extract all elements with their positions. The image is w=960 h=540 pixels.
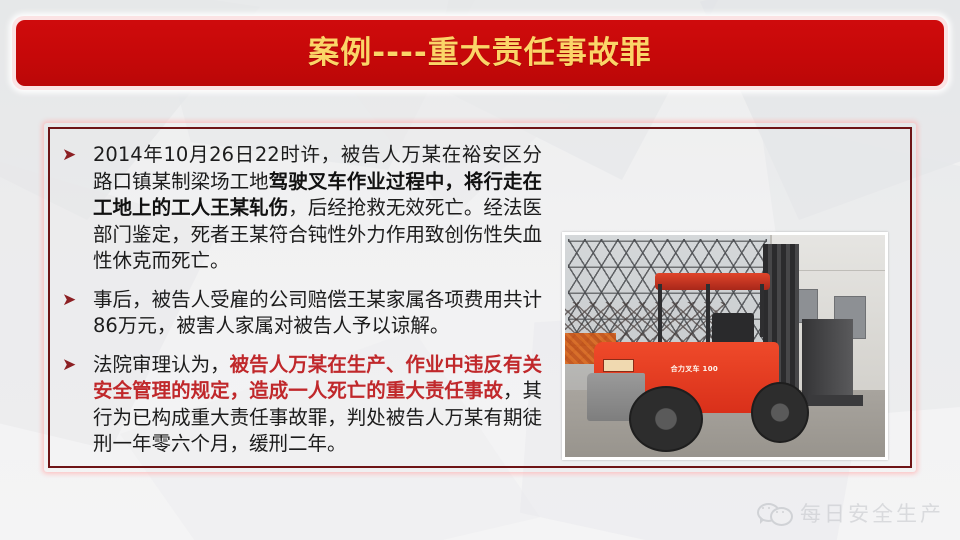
page-title: 案例----重大责任事故罪 [308, 38, 651, 69]
watermark: 每日安全生产 [757, 498, 944, 528]
title-banner: 案例----重大责任事故罪 [12, 16, 948, 90]
wechat-icon [757, 501, 791, 525]
list-item: ➤ 事后，被告人受雇的公司赔偿王某家属各项费用共计86万元，被害人家属对被告人予… [62, 287, 542, 340]
slide-root: 案例----重大责任事故罪 ➤ 2014年10月26日22时许，被告人万某在裕安… [0, 0, 960, 540]
list-item: ➤ 法院审理认为，被告人万某在生产、作业中违反有关安全管理的规定，造成一人死亡的… [62, 352, 542, 458]
list-item: ➤ 2014年10月26日22时许，被告人万某在裕安区分路口镇某制梁场工地驾驶叉… [62, 142, 542, 275]
arrow-bullet-icon: ➤ [62, 355, 82, 375]
bullet-3-segment-1: 法院审理认为， [93, 353, 230, 376]
forklift-label: 合力叉车 100 [671, 364, 718, 374]
bullet-list: ➤ 2014年10月26日22时许，被告人万某在裕安区分路口镇某制梁场工地驾驶叉… [62, 142, 542, 458]
bullet-2-segment-1: 事后，被告人受雇的公司赔偿王某家属各项费用共计86万元，被害人家属对被告人予以谅… [93, 288, 542, 338]
watermark-text: 每日安全生产 [800, 498, 944, 528]
bullet-paragraph-2: 事后，被告人受雇的公司赔偿王某家属各项费用共计86万元，被害人家属对被告人予以谅… [93, 287, 542, 340]
title-banner-inner: 案例----重大责任事故罪 [16, 20, 944, 86]
bullet-paragraph-1: 2014年10月26日22时许，被告人万某在裕安区分路口镇某制梁场工地驾驶叉车作… [93, 142, 542, 275]
arrow-bullet-icon: ➤ [62, 290, 82, 310]
bullet-paragraph-3: 法院审理认为，被告人万某在生产、作业中违反有关安全管理的规定，造成一人死亡的重大… [93, 352, 542, 458]
arrow-bullet-icon: ➤ [62, 145, 82, 165]
accident-photo: 合力叉车 100 [562, 232, 888, 460]
accident-photo-image: 合力叉车 100 [565, 235, 885, 457]
